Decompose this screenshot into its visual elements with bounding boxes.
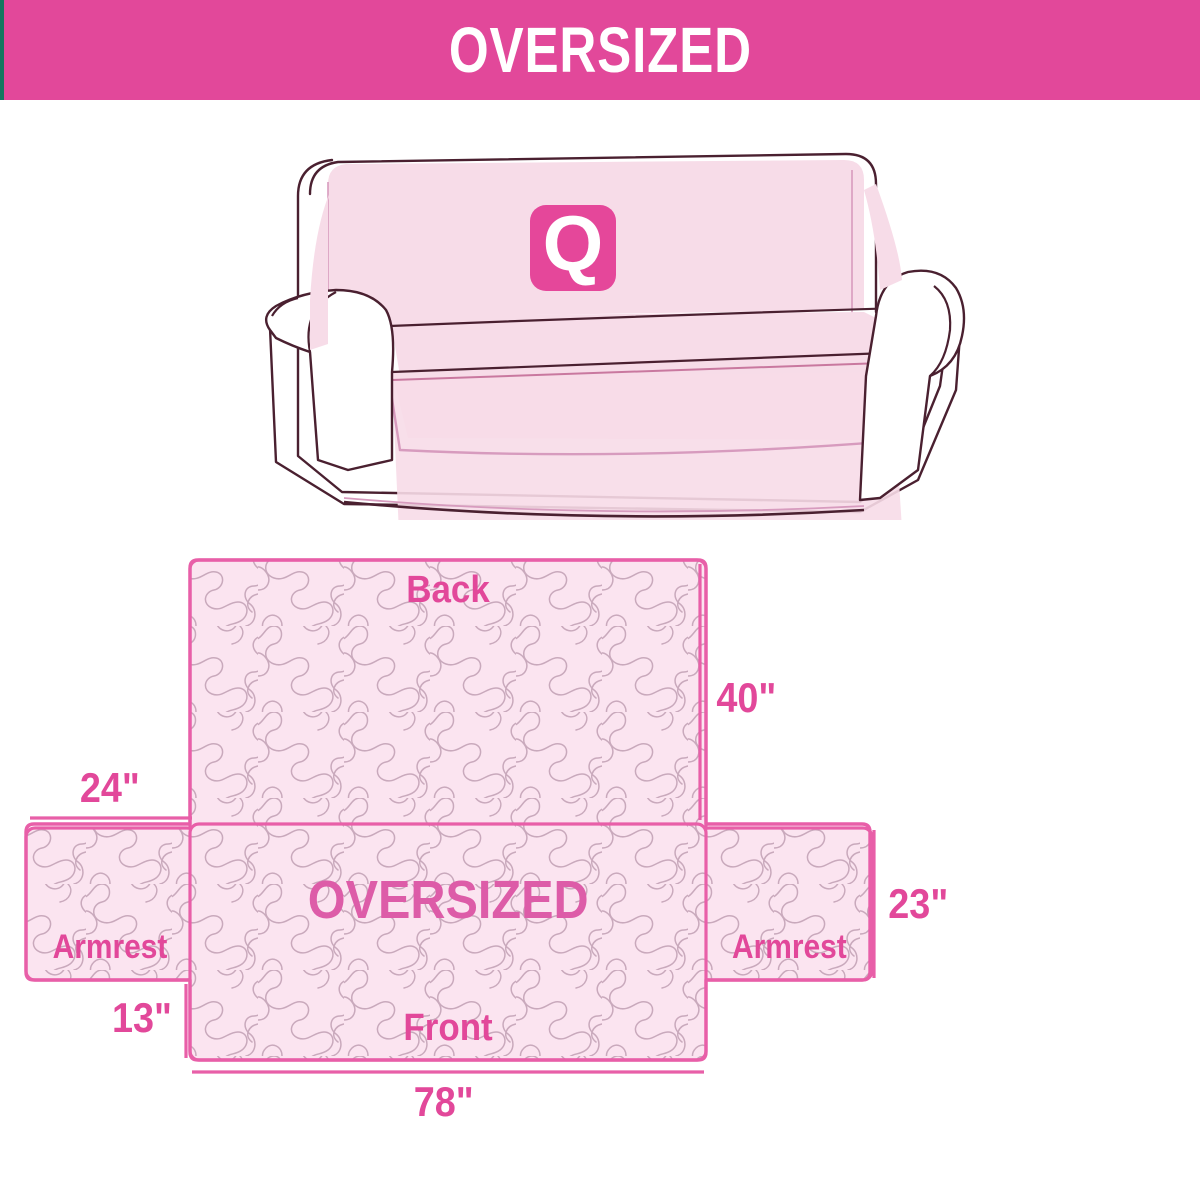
- dimension-label-78: 78": [414, 1079, 474, 1125]
- dimension-label-40: 40": [716, 675, 776, 721]
- panel-front: OVERSIZED Front: [190, 824, 706, 1060]
- dimension-back-height: 40": [700, 564, 776, 820]
- banner-accent-edge: [0, 0, 4, 100]
- dimension-label-23: 23": [888, 881, 948, 927]
- panel-label-armrest-right: Armrest: [732, 927, 847, 965]
- dimension-label-13: 13": [112, 995, 172, 1041]
- panel-armrest-right: Armrest: [700, 828, 872, 980]
- dimension-total-width: 78": [192, 1072, 704, 1125]
- brand-logo-badge: Q: [530, 199, 616, 291]
- dimension-front-height: 13": [112, 984, 186, 1058]
- panel-label-armrest-left: Armrest: [53, 927, 168, 965]
- brand-logo-letter: Q: [543, 199, 604, 287]
- panel-label-front: Front: [403, 1006, 492, 1049]
- dimension-armrest-width: 24": [30, 765, 192, 818]
- dimension-armrest-height: 23": [874, 830, 948, 978]
- sofa-illustration: Q: [240, 140, 980, 520]
- page-title: OVERSIZED: [448, 18, 751, 82]
- header-banner: OVERSIZED: [0, 0, 1200, 100]
- panel-label-back: Back: [406, 568, 490, 611]
- sofa-body: [266, 154, 964, 520]
- panel-armrest-left: Armrest: [26, 828, 196, 980]
- slipcover-diagram: Back Armrest Armrest OVERSIZED Front 4: [0, 540, 1200, 1160]
- panel-back: Back: [190, 560, 706, 852]
- dimension-label-24: 24": [80, 765, 140, 811]
- diagram-center-label: OVERSIZED: [308, 869, 589, 930]
